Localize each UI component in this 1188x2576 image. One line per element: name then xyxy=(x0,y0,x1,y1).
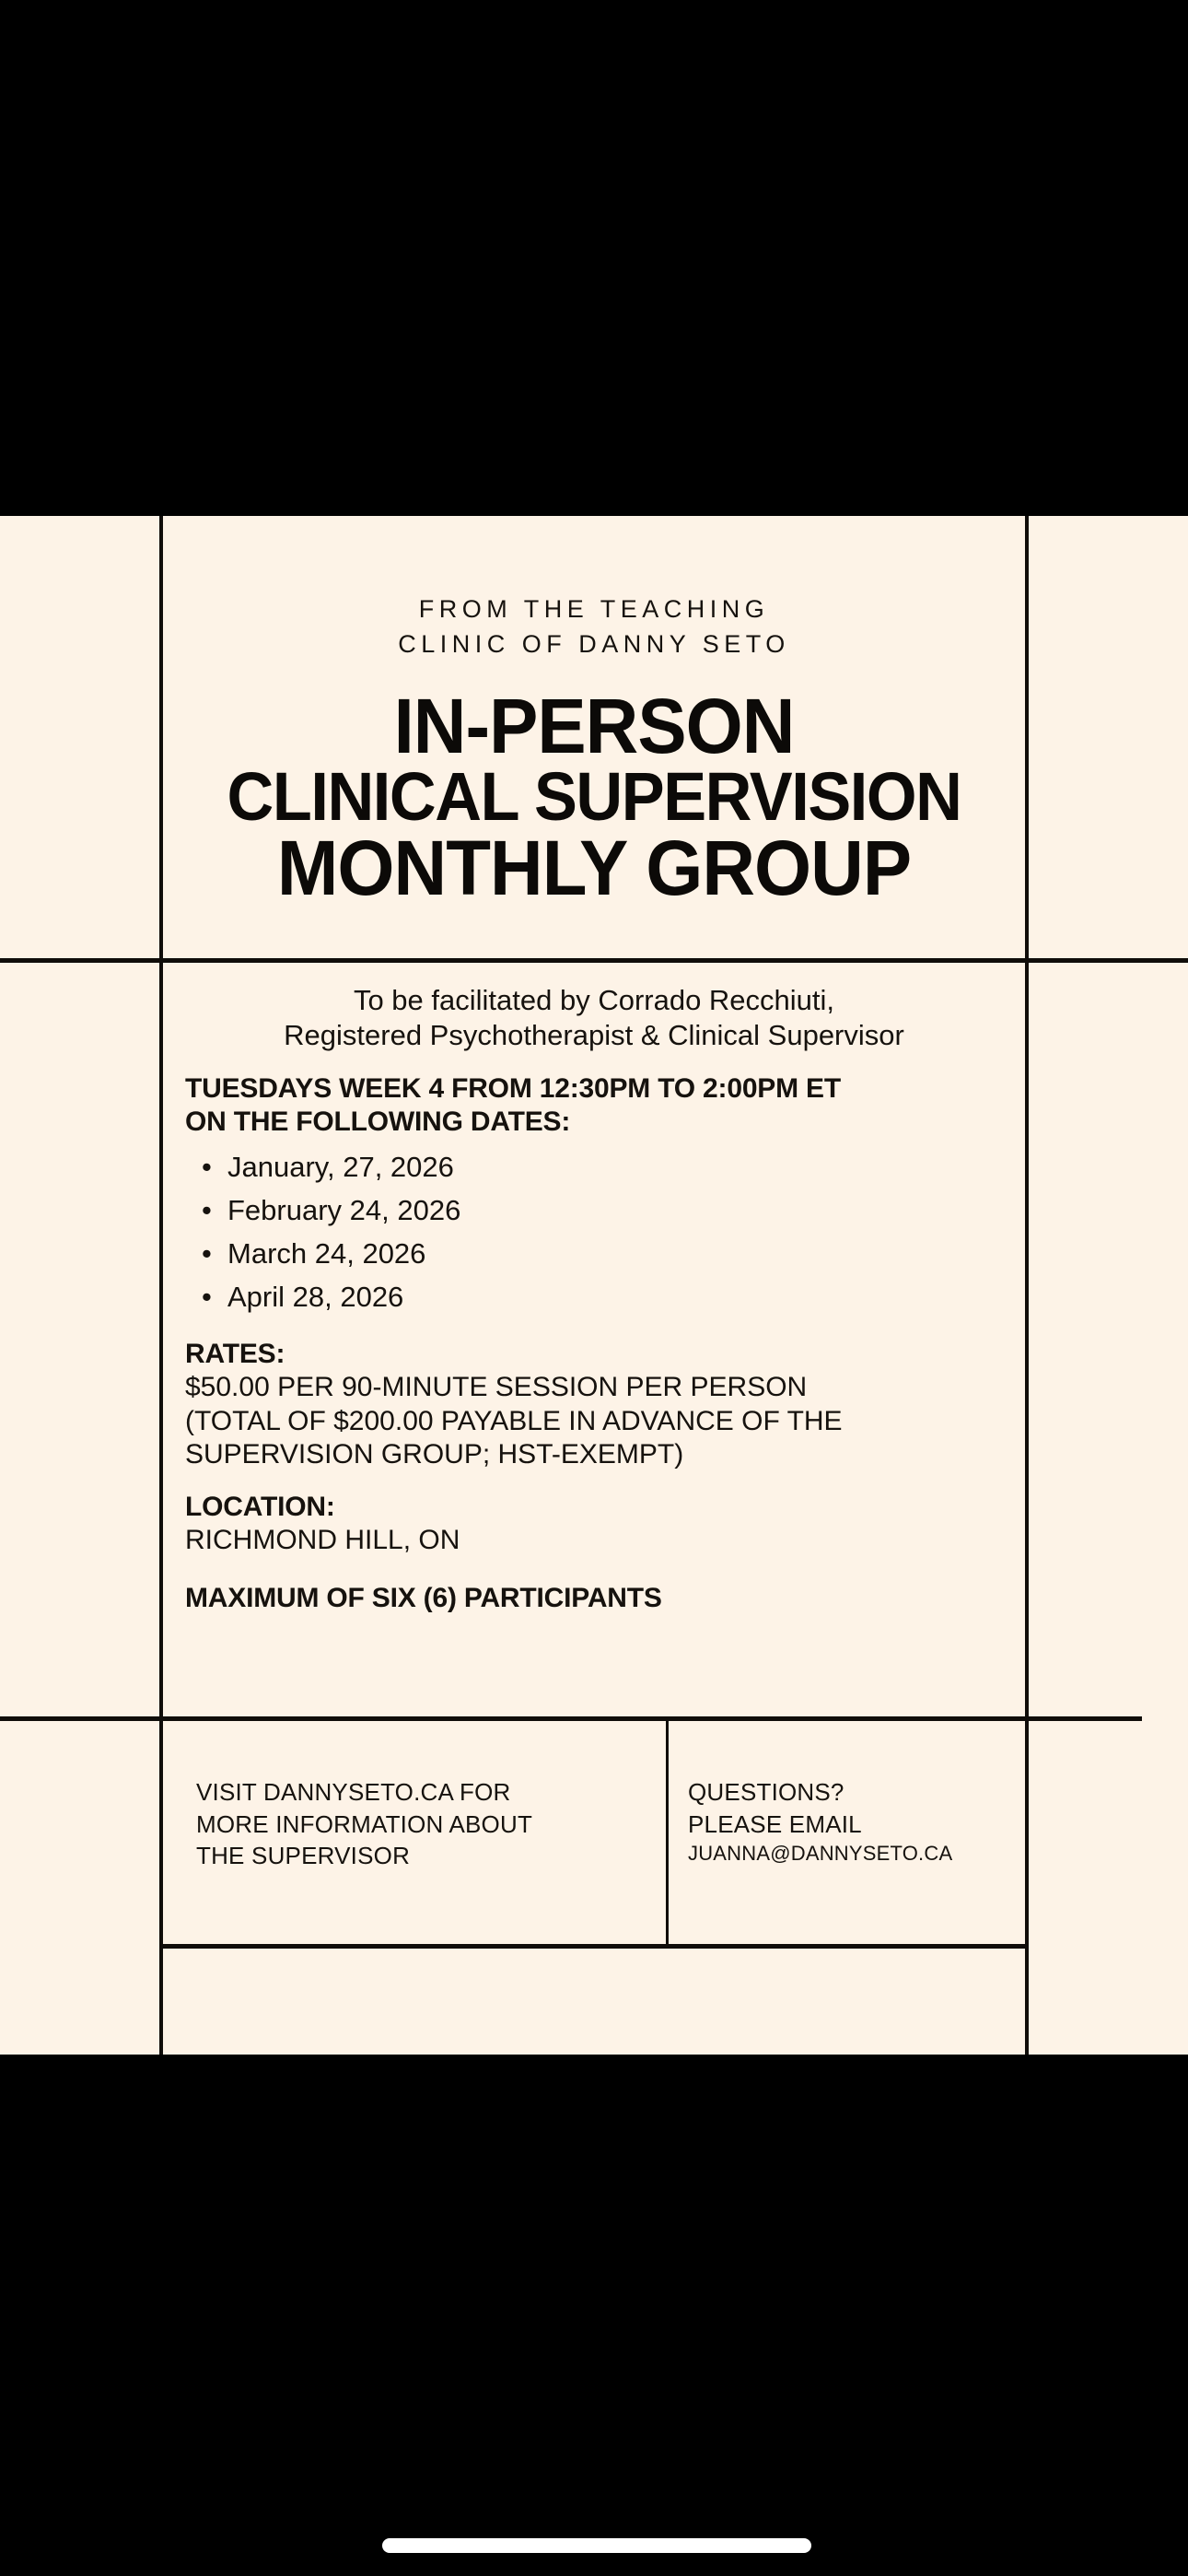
schedule-line-2: ON THE FOLLOWING DATES: xyxy=(185,1106,1003,1140)
rates-heading: RATES: xyxy=(185,1338,1003,1372)
footer-left-line-3: THE SUPERVISOR xyxy=(196,1840,666,1872)
home-indicator[interactable] xyxy=(382,2538,811,2553)
page-title: IN-PERSON CLINICAL SUPERVISION MONTHLY G… xyxy=(163,688,1025,907)
footer-column-website: VISIT DANNYSETO.CA FOR MORE INFORMATION … xyxy=(163,1721,666,1944)
title-line-in-person: IN-PERSON xyxy=(184,688,1003,764)
poster-header: FROM THE TEACHING CLINIC OF DANNY SETO I… xyxy=(163,516,1025,958)
facilitator-line-1: To be facilitated by Corrado Recchiuti, xyxy=(185,983,1003,1018)
phone-screen: FROM THE TEACHING CLINIC OF DANNY SETO I… xyxy=(0,0,1188,2576)
footer-bottom-rule xyxy=(159,1944,1029,1949)
schedule-line-1: TUESDAYS WEEK 4 FROM 12:30PM TO 2:00PM E… xyxy=(185,1072,1003,1107)
poster-footer: VISIT DANNYSETO.CA FOR MORE INFORMATION … xyxy=(163,1721,1025,1944)
eyebrow-text: FROM THE TEACHING CLINIC OF DANNY SETO xyxy=(398,591,790,662)
footer-left-line-2: MORE INFORMATION ABOUT xyxy=(196,1809,666,1841)
eyebrow-line-2: CLINIC OF DANNY SETO xyxy=(398,626,790,662)
capacity-text: MAXIMUM OF SIX (6) PARTICIPANTS xyxy=(185,1582,1003,1616)
spacer-before-location xyxy=(185,1472,1003,1491)
list-item: January, 27, 2026 xyxy=(185,1145,1003,1188)
location-value: RICHMOND HILL, ON xyxy=(185,1524,1003,1558)
rates-line-1: $50.00 PER 90-MINUTE SESSION PER PERSON xyxy=(185,1371,1003,1405)
spacer-before-rates xyxy=(185,1319,1003,1338)
title-line-clinical-supervision: CLINICAL SUPERVISION xyxy=(184,764,1003,831)
title-line-monthly-group: MONTHLY GROUP xyxy=(184,830,1003,906)
rates-line-3: SUPERVISION GROUP; HST-EXEMPT) xyxy=(185,1438,1003,1472)
facilitator-block: To be facilitated by Corrado Recchiuti, … xyxy=(185,983,1003,1054)
list-item: February 24, 2026 xyxy=(185,1188,1003,1232)
spacer-before-capacity xyxy=(185,1558,1003,1582)
poster-image[interactable]: FROM THE TEACHING CLINIC OF DANNY SETO I… xyxy=(0,516,1188,2055)
list-item: March 24, 2026 xyxy=(185,1232,1003,1275)
location-heading: LOCATION: xyxy=(185,1491,1003,1525)
dates-list: January, 27, 2026 February 24, 2026 Marc… xyxy=(185,1145,1003,1318)
eyebrow-line-1: FROM THE TEACHING xyxy=(398,591,790,626)
rates-line-2: (TOTAL OF $200.00 PAYABLE IN ADVANCE OF … xyxy=(185,1405,1003,1439)
poster-body: To be facilitated by Corrado Recchiuti, … xyxy=(163,963,1025,1716)
facilitator-line-2: Registered Psychotherapist & Clinical Su… xyxy=(185,1018,1003,1053)
footer-right-line-2: PLEASE EMAIL xyxy=(688,1809,1025,1841)
footer-right-line-1: QUESTIONS? xyxy=(688,1776,1025,1809)
footer-left-line-1: VISIT DANNYSETO.CA FOR xyxy=(196,1776,666,1809)
footer-column-contact: QUESTIONS? PLEASE EMAIL JUANNA@DANNYSETO… xyxy=(666,1721,1025,1944)
contact-email[interactable]: JUANNA@DANNYSETO.CA xyxy=(688,1840,1025,1867)
list-item: April 28, 2026 xyxy=(185,1275,1003,1318)
poster-frame-right-rail xyxy=(1025,516,1029,2055)
